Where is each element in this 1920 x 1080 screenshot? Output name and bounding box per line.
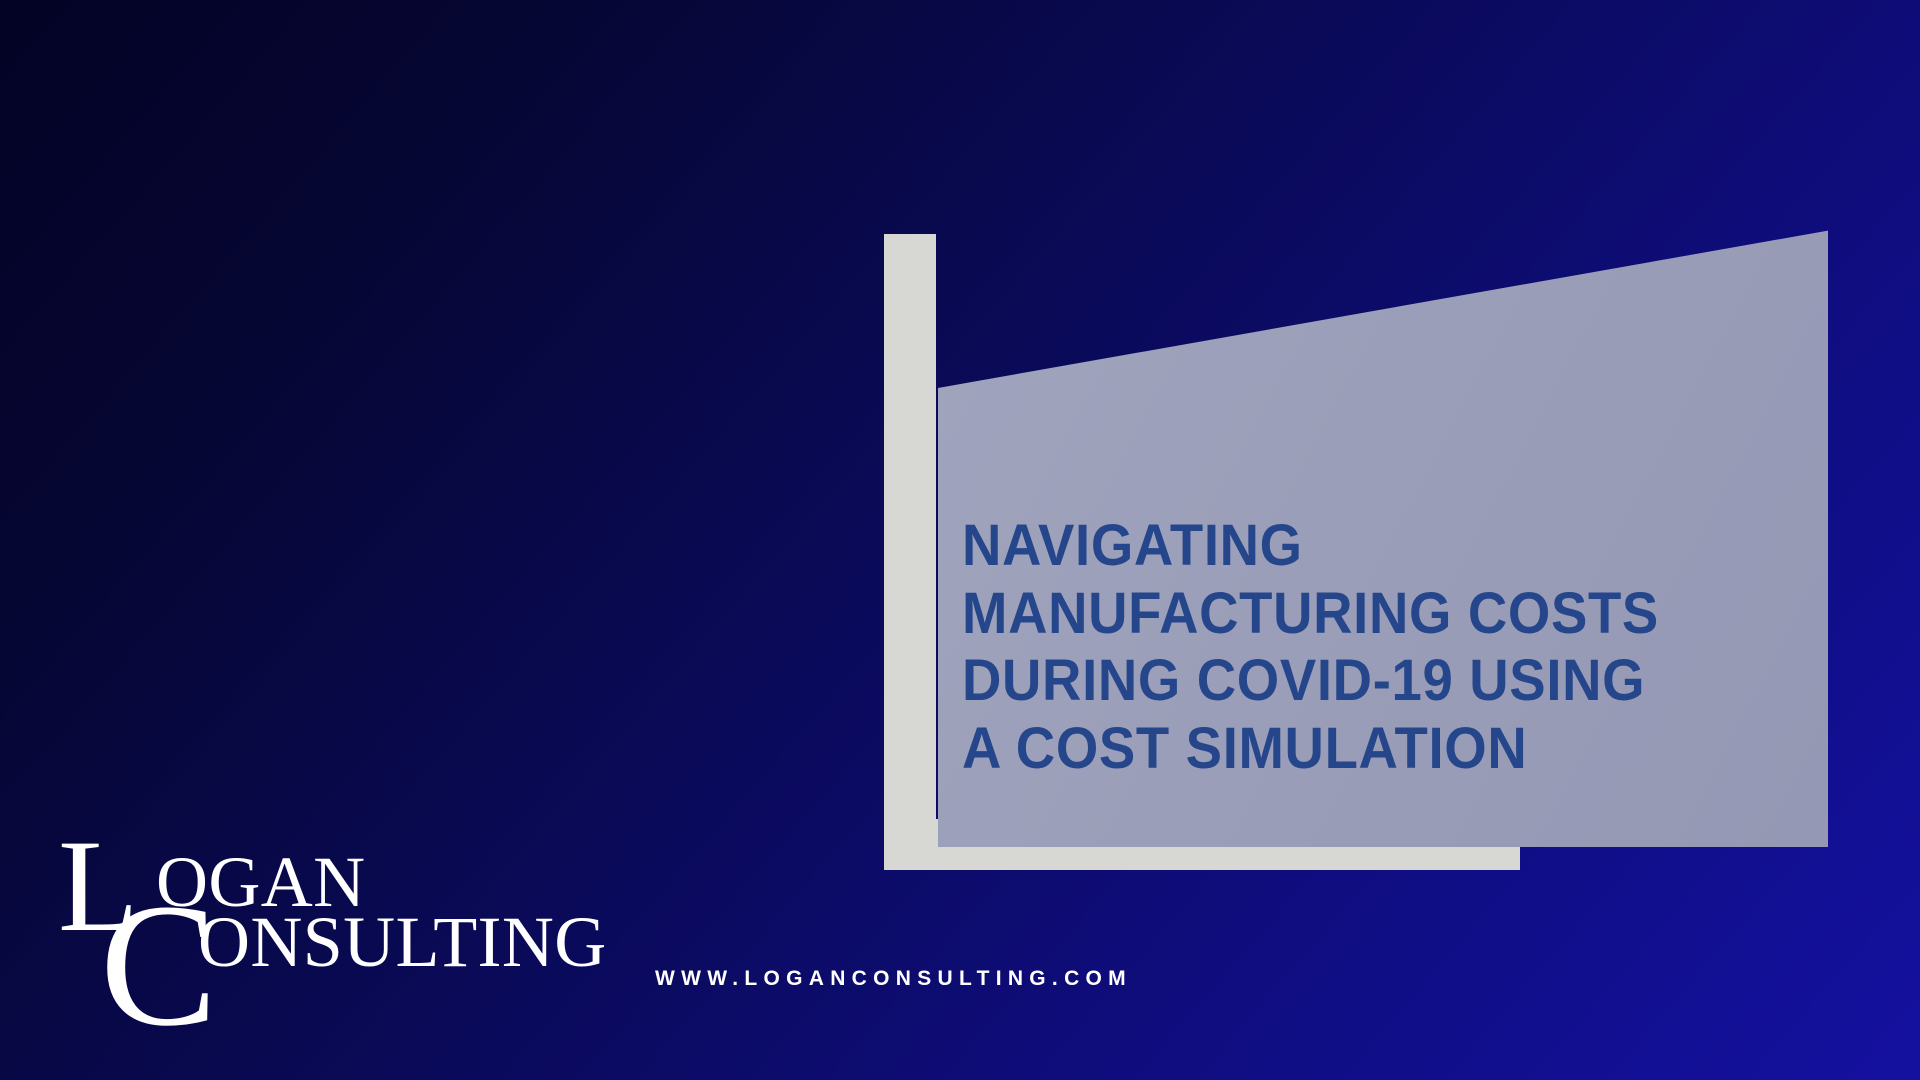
l-bar-vertical-segment — [884, 234, 936, 870]
slide-headline: Navigating Manufacturing Costs During CO… — [962, 512, 1733, 782]
logo-word-consulting-remainder: ONSULTING — [198, 906, 607, 978]
logan-consulting-logo: L OGAN C ONSULTING — [58, 826, 528, 1016]
title-slide: Navigating Manufacturing Costs During CO… — [0, 0, 1920, 1080]
website-url: WWW.LOGANCONSULTING.COM — [655, 967, 1132, 991]
